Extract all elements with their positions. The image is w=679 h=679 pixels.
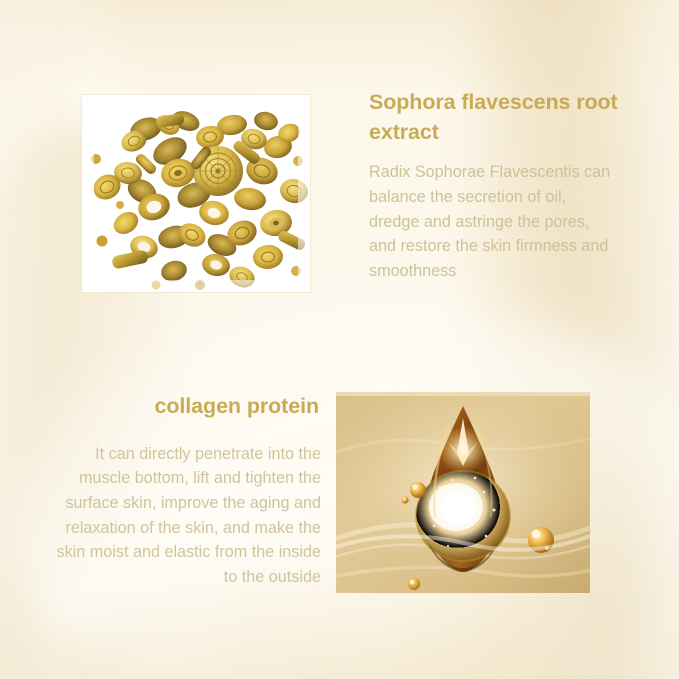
collagen-body-text: It can directly penetrate into the muscl… xyxy=(46,422,321,590)
infographic-canvas: Sophora flavescens root extract Radix So… xyxy=(0,0,679,679)
sophora-root-photo xyxy=(82,95,310,292)
sophora-heading: Sophora flavescens root extract xyxy=(369,88,619,147)
sophora-text-block: Sophora flavescens root extract Radix So… xyxy=(369,88,619,283)
sophora-body-text: Radix Sophorae Flavescentis can balance … xyxy=(369,147,619,283)
collagen-text-block: collagen protein It can directly penetra… xyxy=(46,392,321,589)
collagen-heading: collagen protein xyxy=(46,392,321,422)
golden-droplet-illustration xyxy=(336,392,590,593)
sophora-root-illustration xyxy=(82,95,310,292)
collagen-droplet-photo xyxy=(336,392,590,593)
